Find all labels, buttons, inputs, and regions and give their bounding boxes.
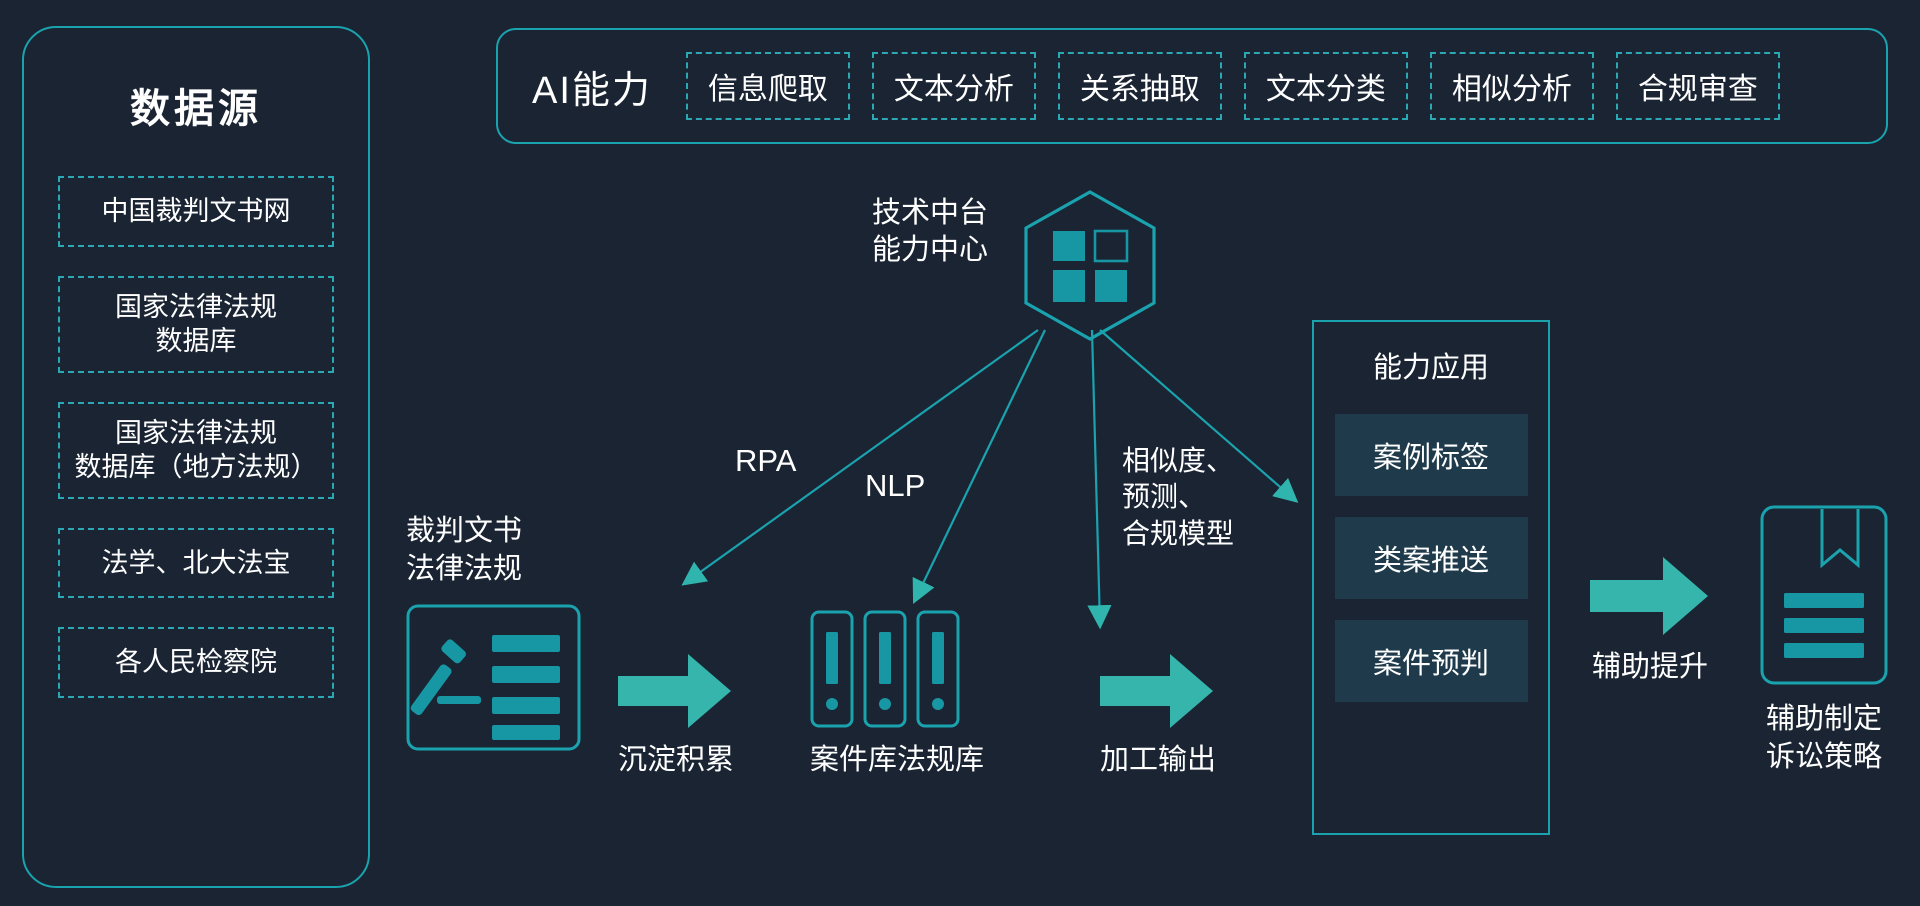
datasource-item-1[interactable]: 国家法律法规数据库 [58, 276, 334, 373]
ai-capability-title: AI能力 [532, 59, 652, 114]
datasource-item-2[interactable]: 国家法律法规数据库（地方法规） [58, 402, 334, 499]
ai-chip-text-analysis[interactable]: 文本分析 [872, 52, 1036, 120]
edge-label-model: 相似度、预测、合规模型 [1122, 443, 1234, 552]
datasource-item-label: 国家法律法规数据库（地方法规） [75, 416, 318, 485]
datasource-panel: 数据源 中国裁判文书网 国家法律法规数据库 国家法律法规数据库（地方法规） 法学… [22, 26, 370, 888]
flow-documents-caption: 裁判文书法律法规 [406, 513, 586, 588]
capability-item-case-tag[interactable]: 案例标签 [1335, 414, 1528, 496]
datasource-item-3[interactable]: 法学、北大法宝 [58, 528, 334, 599]
flow-arrow-accumulate: 沉淀积累 [618, 652, 734, 780]
flow-servers: 案件库法规库 [810, 610, 984, 780]
flow-arrow-assist-caption: 辅助提升 [1590, 649, 1710, 687]
ai-chip-info-crawl[interactable]: 信息爬取 [686, 52, 850, 120]
ai-capability-bar: AI能力 信息爬取 文本分析 关系抽取 文本分类 相似分析 合规审查 [496, 28, 1888, 144]
hub-label: 技术中台能力中心 [845, 195, 1015, 269]
server-rack-icon [810, 610, 984, 728]
ai-chip-compliance-review[interactable]: 合规审查 [1616, 52, 1780, 120]
edge-label-rpa: RPA [735, 443, 796, 479]
flow-servers-caption: 案件库法规库 [810, 742, 984, 780]
bookmark-document-icon [1760, 505, 1888, 685]
flow-arrow-process-caption: 加工输出 [1100, 742, 1216, 780]
diagram-canvas: 数据源 中国裁判文书网 国家法律法规数据库 国家法律法规数据库（地方法规） 法学… [0, 0, 1920, 906]
datasource-item-label: 中国裁判文书网 [102, 194, 291, 229]
flow-arrow-assist: 辅助提升 [1590, 555, 1710, 687]
datasource-item-label: 国家法律法规数据库 [115, 290, 277, 359]
ai-chip-text-classification[interactable]: 文本分类 [1244, 52, 1408, 120]
datasource-item-label: 法学、北大法宝 [102, 546, 291, 581]
edge-nlp-line [915, 330, 1045, 600]
right-arrow-icon [1100, 652, 1216, 730]
flow-arrow-accumulate-caption: 沉淀积累 [618, 742, 734, 780]
datasource-item-4[interactable]: 各人民检察院 [58, 627, 334, 698]
edge-process-line [1092, 330, 1100, 625]
gavel-document-icon [406, 604, 586, 751]
datasource-title: 数据源 [130, 76, 262, 134]
right-arrow-icon [1590, 555, 1710, 637]
hexagon-grid-icon [1020, 188, 1160, 343]
flow-arrow-process: 加工输出 [1100, 652, 1216, 780]
capability-item-case-prediction[interactable]: 案件预判 [1335, 620, 1528, 702]
capability-item-similar-case-push[interactable]: 类案推送 [1335, 517, 1528, 599]
right-arrow-icon [618, 652, 734, 730]
ai-chip-relation-extraction[interactable]: 关系抽取 [1058, 52, 1222, 120]
flow-final-document: 辅助制定诉讼策略 [1760, 505, 1888, 776]
datasource-list: 中国裁判文书网 国家法律法规数据库 国家法律法规数据库（地方法规） 法学、北大法… [24, 176, 368, 698]
ai-chip-similarity-analysis[interactable]: 相似分析 [1430, 52, 1594, 120]
capability-application-title: 能力应用 [1373, 344, 1489, 386]
capability-application-panel: 能力应用 案例标签 类案推送 案件预判 [1312, 320, 1550, 835]
flow-documents: 裁判文书法律法规 [406, 513, 586, 751]
datasource-item-label: 各人民检察院 [115, 645, 277, 680]
datasource-item-0[interactable]: 中国裁判文书网 [58, 176, 334, 247]
capability-application-list: 案例标签 类案推送 案件预判 [1314, 414, 1548, 702]
edge-label-nlp: NLP [865, 468, 925, 504]
flow-final-document-caption: 辅助制定诉讼策略 [1760, 701, 1888, 776]
